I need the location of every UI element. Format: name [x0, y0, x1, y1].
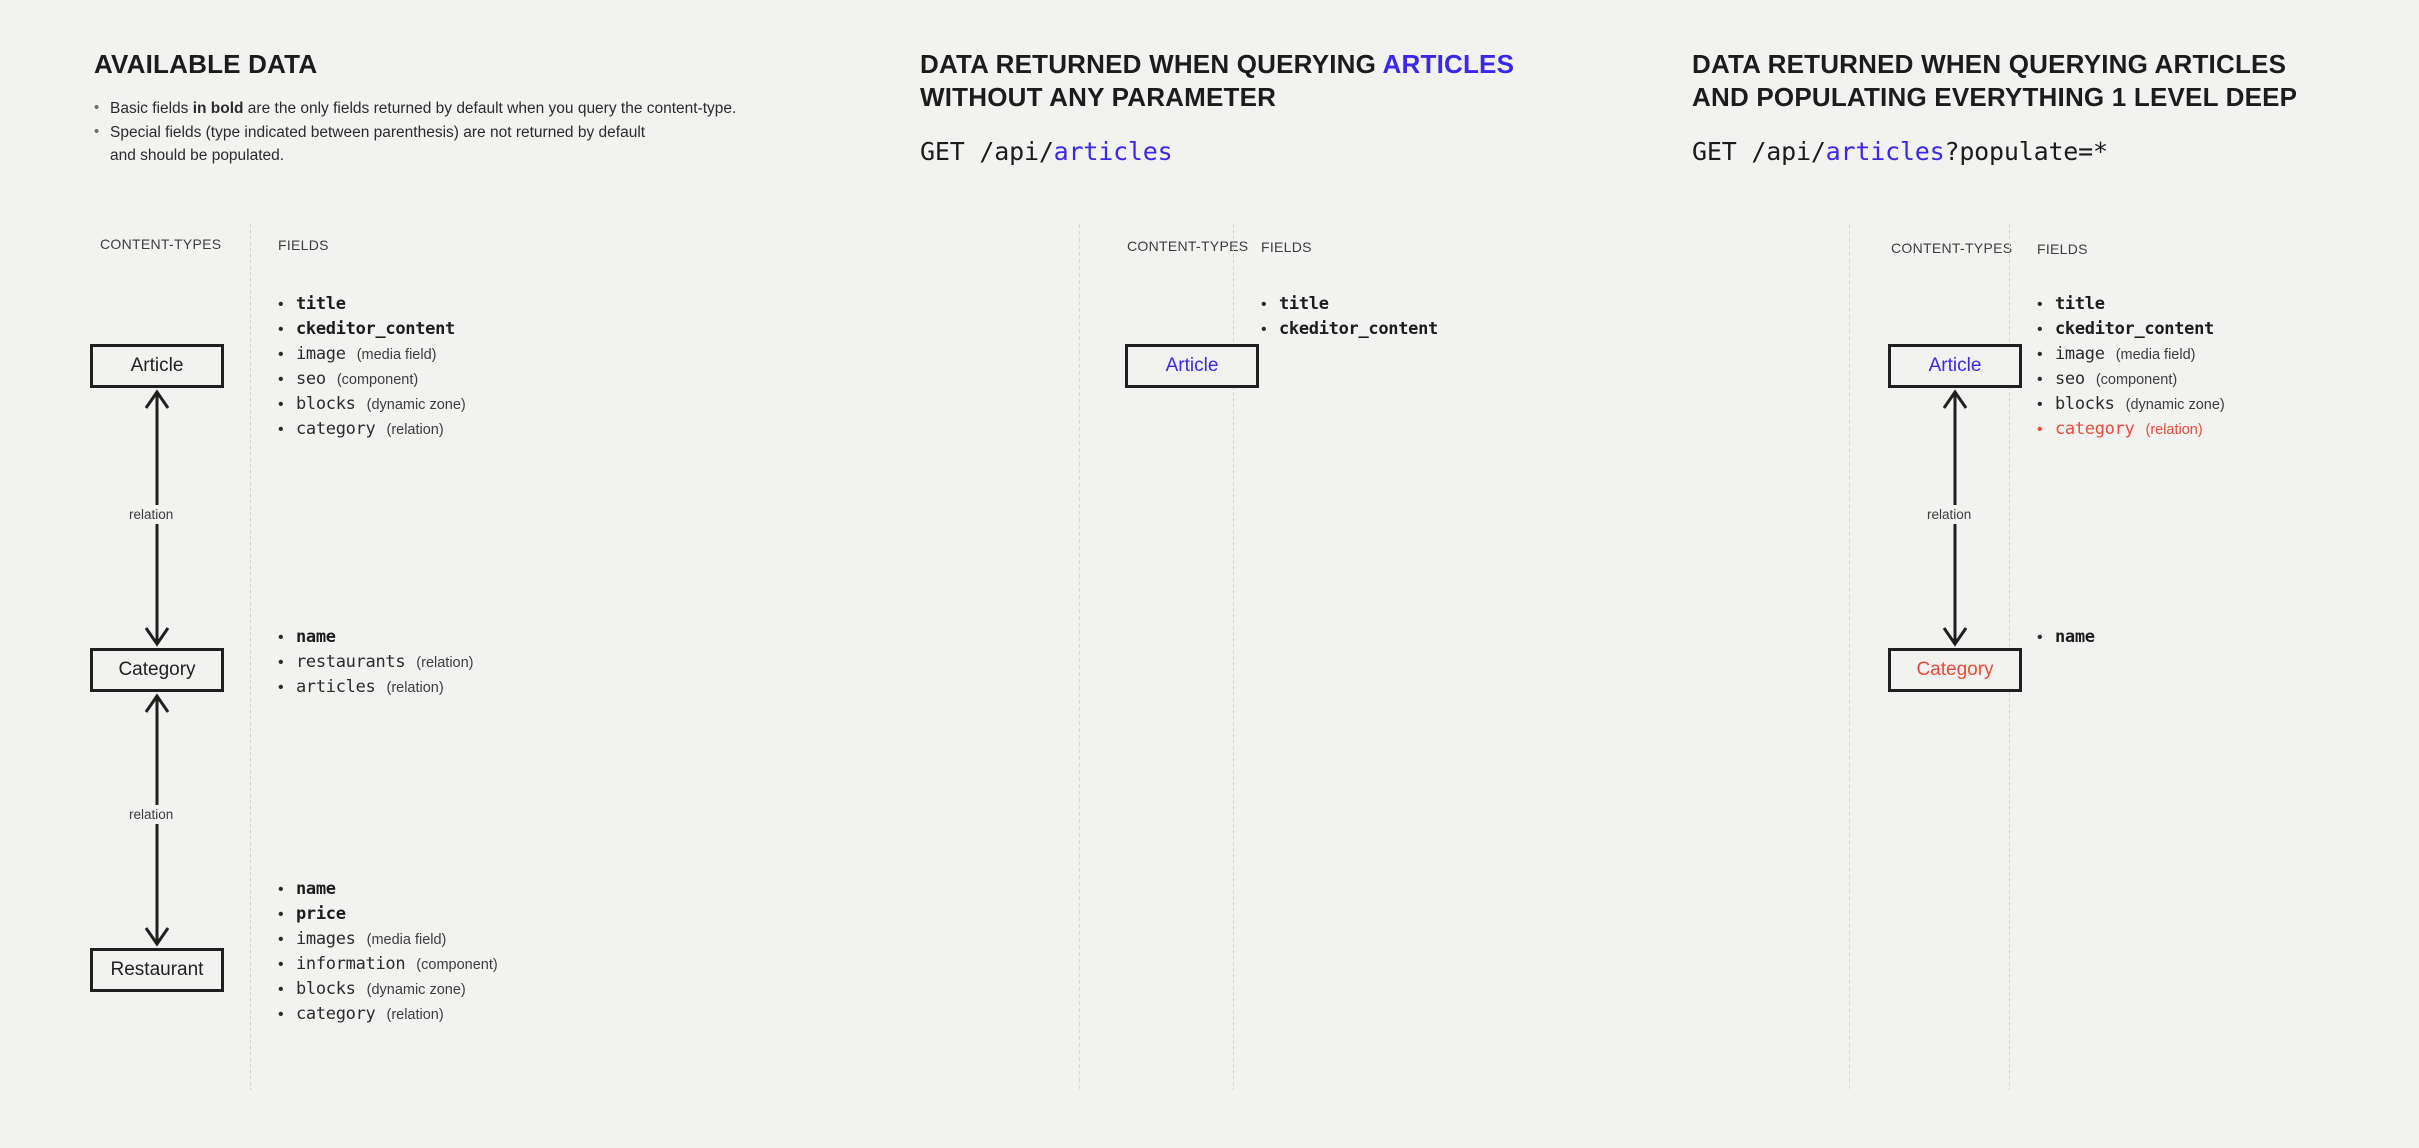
endpoint-query: ?populate=*: [1944, 137, 2107, 166]
intro-bullet-text: Basic fields in bold are the only fields…: [110, 97, 736, 120]
field-row: •name: [278, 881, 498, 898]
field-name: restaurants: [296, 654, 405, 671]
entity-label: Restaurant: [111, 959, 204, 981]
entity-label: Article: [1929, 355, 1982, 377]
endpoint-url: GET /api/articles: [920, 137, 1514, 166]
column-label-fields: FIELDS: [2037, 241, 2088, 257]
field-type: (media field): [357, 348, 437, 363]
panel-query-populate-all: DATA RETURNED WHEN QUERYING ARTICLES AND…: [1850, 0, 2419, 1148]
field-name: title: [296, 296, 346, 313]
entity-label: Article: [1166, 355, 1219, 377]
panel-2-header: DATA RETURNED WHEN QUERYING ARTICLES WIT…: [920, 48, 1514, 166]
bullet-dot-icon: •: [278, 680, 296, 696]
field-row: •articles(relation): [278, 679, 474, 696]
bullet-dot-icon: •: [278, 957, 296, 973]
field-list-category: •name: [2037, 629, 2095, 654]
field-name: image: [296, 346, 346, 363]
field-row: •information(component): [278, 956, 498, 973]
http-method: GET: [1692, 137, 1737, 166]
entity-box-restaurant[interactable]: Restaurant: [90, 948, 224, 992]
title-pre: DATA RETURNED WHEN QUERYING ARTICLES: [1692, 49, 2286, 79]
endpoint-base: /api/: [1737, 137, 1826, 166]
field-list-article: •title•ckeditor_content: [1261, 296, 1438, 346]
bullet-dot-icon: •: [94, 121, 110, 168]
title-pre: DATA RETURNED WHEN QUERYING: [920, 49, 1383, 79]
entity-box-article[interactable]: Article: [90, 344, 224, 388]
relation-label: relation: [1922, 505, 1976, 524]
entity-box-article[interactable]: Article: [1888, 344, 2022, 388]
field-type: (relation): [386, 423, 443, 438]
endpoint-url: GET /api/articles?populate=*: [1692, 137, 2297, 166]
field-type: (component): [416, 958, 497, 973]
field-row: •category(relation): [278, 1006, 498, 1023]
http-method: GET: [920, 137, 965, 166]
bullet-dot-icon: •: [2037, 372, 2055, 388]
bullet-dot-icon: •: [278, 1007, 296, 1023]
field-list-article: •title•ckeditor_content•image(media fiel…: [2037, 296, 2225, 446]
column-label-fields: FIELDS: [278, 237, 329, 253]
bullet-dot-icon: •: [278, 630, 296, 646]
entity-box-article[interactable]: Article: [1125, 344, 1259, 388]
bullet-continuation: and should be populated.: [110, 147, 284, 164]
field-name: articles: [296, 679, 375, 696]
field-name: blocks: [296, 981, 356, 998]
field-type: (relation): [386, 681, 443, 696]
field-row: •title: [2037, 296, 2225, 313]
diagram-canvas: AVAILABLE DATA • Basic fields in bold ar…: [0, 0, 2419, 1148]
field-name: price: [296, 906, 346, 923]
field-name: ckeditor_content: [1279, 321, 1438, 338]
bullet-dot-icon: •: [1261, 297, 1279, 313]
bullet-dot-icon: •: [278, 655, 296, 671]
bullet-dot-icon: •: [2037, 422, 2055, 438]
column-label-content-types: CONTENT-TYPES: [1127, 238, 1248, 254]
field-row: •restaurants(relation): [278, 654, 474, 671]
bullet-dot-icon: •: [278, 347, 296, 363]
field-type: (dynamic zone): [2126, 398, 2225, 413]
field-name: category: [296, 421, 375, 438]
field-row: •category(relation): [2037, 421, 2225, 438]
field-row: •title: [1261, 296, 1438, 313]
field-row: •seo(component): [2037, 371, 2225, 388]
field-row: •name: [2037, 629, 2095, 646]
bullet-dot-icon: •: [278, 422, 296, 438]
field-row: •blocks(dynamic zone): [278, 396, 466, 413]
intro-bullet: • Special fields (type indicated between…: [94, 121, 736, 168]
panel-available-data: AVAILABLE DATA • Basic fields in bold ar…: [0, 0, 1080, 1148]
field-name: blocks: [296, 396, 356, 413]
field-type: (dynamic zone): [367, 398, 466, 413]
bullet-dot-icon: •: [2037, 347, 2055, 363]
intro-bullet: • Basic fields in bold are the only fiel…: [94, 97, 736, 120]
bullet-dot-icon: •: [278, 882, 296, 898]
bullet-bold: in bold: [193, 100, 244, 117]
field-row: •ckeditor_content: [2037, 321, 2225, 338]
bullet-dot-icon: •: [278, 982, 296, 998]
field-row: •images(media field): [278, 931, 498, 948]
bullet-pre: Special fields (type indicated between p…: [110, 124, 645, 141]
field-name: seo: [2055, 371, 2085, 388]
bullet-post: are the only fields returned by default …: [244, 100, 737, 117]
bullet-dot-icon: •: [278, 932, 296, 948]
bullet-dot-icon: •: [2037, 322, 2055, 338]
entity-box-category[interactable]: Category: [90, 648, 224, 692]
field-row: •image(media field): [278, 346, 466, 363]
field-row: •ckeditor_content: [1261, 321, 1438, 338]
page-title: AVAILABLE DATA: [94, 48, 736, 81]
bullet-pre: Basic fields: [110, 100, 193, 117]
panel-query-no-parameter: DATA RETURNED WHEN QUERYING ARTICLES WIT…: [1080, 0, 1850, 1148]
field-list-category: •name•restaurants(relation)•articles(rel…: [278, 629, 474, 704]
field-name: title: [1279, 296, 1329, 313]
bullet-dot-icon: •: [2037, 397, 2055, 413]
field-name: name: [296, 629, 336, 646]
page-title: DATA RETURNED WHEN QUERYING ARTICLES AND…: [1692, 48, 2297, 115]
bullet-dot-icon: •: [278, 372, 296, 388]
entity-label: Article: [131, 355, 184, 377]
field-row: •image(media field): [2037, 346, 2225, 363]
field-name: name: [2055, 629, 2095, 646]
title-line-2: AND POPULATING EVERYTHING 1 LEVEL DEEP: [1692, 82, 2297, 112]
page-title: DATA RETURNED WHEN QUERYING ARTICLES WIT…: [920, 48, 1514, 115]
field-row: •blocks(dynamic zone): [2037, 396, 2225, 413]
field-row: •ckeditor_content: [278, 321, 466, 338]
field-name: image: [2055, 346, 2105, 363]
title-line-2: WITHOUT ANY PARAMETER: [920, 82, 1276, 112]
title-text: AVAILABLE DATA: [94, 49, 317, 79]
field-name: title: [2055, 296, 2105, 313]
column-label-fields: FIELDS: [1261, 239, 1312, 255]
bullet-dot-icon: •: [2037, 297, 2055, 313]
field-type: (relation): [386, 1008, 443, 1023]
bullet-dot-icon: •: [94, 97, 110, 120]
bullet-dot-icon: •: [1261, 322, 1279, 338]
bullet-dot-icon: •: [278, 297, 296, 313]
field-name: category: [296, 1006, 375, 1023]
bullet-dot-icon: •: [278, 322, 296, 338]
inner-divider: [250, 224, 251, 1090]
field-name: blocks: [2055, 396, 2115, 413]
field-name: name: [296, 881, 336, 898]
field-name: ckeditor_content: [296, 321, 455, 338]
field-row: •name: [278, 629, 474, 646]
entity-box-category[interactable]: Category: [1888, 648, 2022, 692]
field-name: category: [2055, 421, 2134, 438]
field-type: (media field): [2116, 348, 2196, 363]
field-row: •title: [278, 296, 466, 313]
field-row: •price: [278, 906, 498, 923]
field-type: (dynamic zone): [367, 983, 466, 998]
field-list-restaurant: •name•price•images(media field)•informat…: [278, 881, 498, 1031]
field-type: (component): [337, 373, 418, 388]
intro-bullet-text: Special fields (type indicated between p…: [110, 121, 645, 168]
relation-label: relation: [124, 805, 178, 824]
field-type: (component): [2096, 373, 2177, 388]
field-list-article: •title•ckeditor_content•image(media fiel…: [278, 296, 466, 446]
field-name: seo: [296, 371, 326, 388]
field-name: ckeditor_content: [2055, 321, 2214, 338]
intro-bullets: • Basic fields in bold are the only fiel…: [94, 97, 736, 167]
field-name: images: [296, 931, 356, 948]
endpoint-resource: articles: [1826, 137, 1945, 166]
endpoint-base: /api/: [965, 137, 1054, 166]
panel-3-header: DATA RETURNED WHEN QUERYING ARTICLES AND…: [1692, 48, 2297, 166]
field-type: (media field): [367, 933, 447, 948]
column-label-content-types: CONTENT-TYPES: [100, 236, 221, 252]
endpoint-resource: articles: [1054, 137, 1173, 166]
field-name: information: [296, 956, 405, 973]
field-type: (relation): [2145, 423, 2202, 438]
bullet-dot-icon: •: [278, 397, 296, 413]
bullet-dot-icon: •: [2037, 630, 2055, 646]
column-label-content-types: CONTENT-TYPES: [1891, 240, 2012, 256]
field-row: •category(relation): [278, 421, 466, 438]
field-row: •seo(component): [278, 371, 466, 388]
panel-1-header: AVAILABLE DATA • Basic fields in bold ar…: [94, 48, 736, 167]
field-row: •blocks(dynamic zone): [278, 981, 498, 998]
entity-label: Category: [118, 659, 195, 681]
field-type: (relation): [416, 656, 473, 671]
relation-label: relation: [124, 505, 178, 524]
entity-label: Category: [1916, 659, 1993, 681]
bullet-dot-icon: •: [278, 907, 296, 923]
title-accent: ARTICLES: [1383, 49, 1515, 79]
